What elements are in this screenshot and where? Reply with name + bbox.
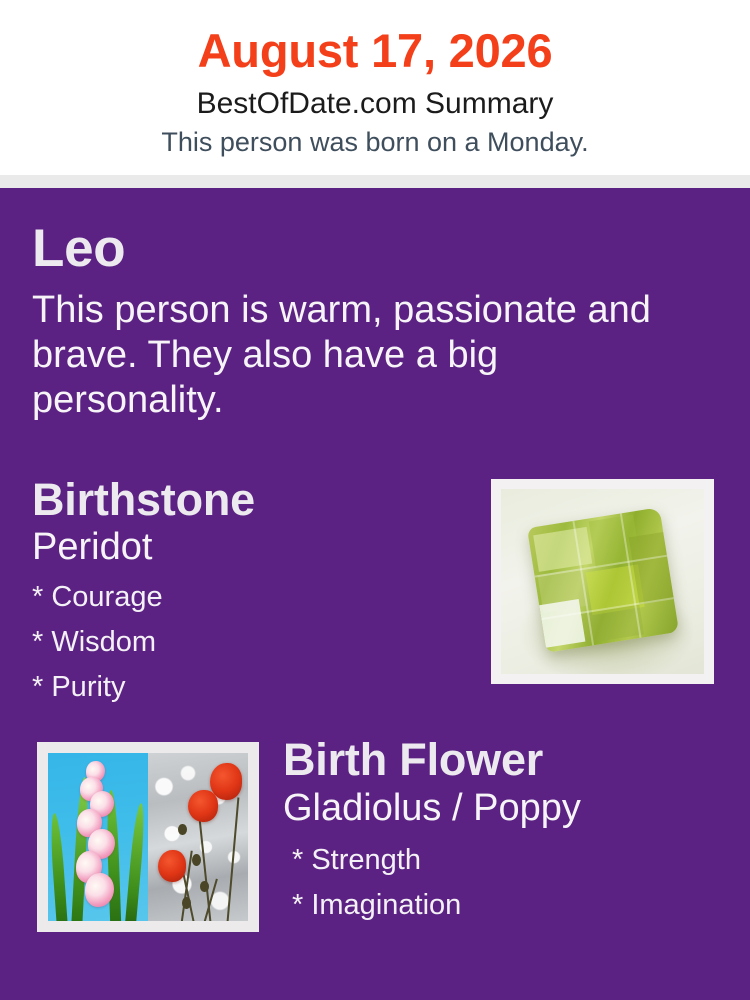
birth-flower-heading: Birth Flower (283, 734, 733, 786)
list-item: * Strength (292, 838, 733, 883)
gem-facet (539, 599, 585, 648)
summary-panel: Leo This person is warm, passionate and … (0, 188, 750, 1000)
peridot-gemstone-image (501, 489, 704, 674)
birthstone-heading: Birthstone (32, 474, 462, 526)
birthstone-name: Peridot (32, 525, 462, 569)
zodiac-section: Leo This person is warm, passionate and … (32, 220, 712, 423)
gladiolus-leaf (124, 803, 146, 921)
list-item: * Imagination (292, 883, 733, 928)
birth-flower-trait-list: * Strength * Imagination (283, 838, 733, 928)
header-divider (0, 175, 750, 188)
list-item: * Wisdom (32, 620, 462, 665)
zodiac-description: This person is warm, passionate and brav… (32, 288, 692, 423)
birth-day-note: This person was born on a Monday. (0, 126, 750, 159)
gemstone-crystal-shape (526, 507, 678, 652)
gladiolus-leaf (49, 813, 68, 921)
poppy-flower-head (188, 790, 218, 822)
list-item: * Purity (32, 665, 462, 710)
gem-facet (533, 526, 592, 572)
poppy-photo-half (148, 753, 248, 921)
birthstone-trait-list: * Courage * Wisdom * Purity (32, 575, 462, 710)
gladiolus-bloom (85, 873, 114, 906)
birth-flower-name: Gladiolus / Poppy (283, 786, 733, 830)
gladiolus-flower-stalk (76, 760, 122, 918)
poppy-flower-head (158, 850, 186, 882)
summary-page: August 17, 2026 BestOfDate.com Summary T… (0, 0, 750, 1000)
birth-flower-photo-frame (37, 742, 259, 932)
zodiac-sign-heading: Leo (32, 220, 712, 278)
poppy-bud (192, 854, 201, 866)
gladiolus-and-poppy-image (48, 753, 248, 921)
list-item: * Courage (32, 575, 462, 620)
page-title-date: August 17, 2026 (0, 24, 750, 78)
birthstone-photo-frame (491, 479, 714, 684)
poppy-bud (178, 824, 187, 836)
gladiolus-photo-half (48, 753, 148, 921)
birthstone-section: Birthstone Peridot * Courage * Wisdom * … (32, 474, 462, 710)
site-summary-label: BestOfDate.com Summary (0, 86, 750, 122)
birth-flower-section: Birth Flower Gladiolus / Poppy * Strengt… (283, 734, 733, 928)
page-header: August 17, 2026 BestOfDate.com Summary T… (0, 0, 750, 175)
poppy-stem (226, 797, 239, 921)
